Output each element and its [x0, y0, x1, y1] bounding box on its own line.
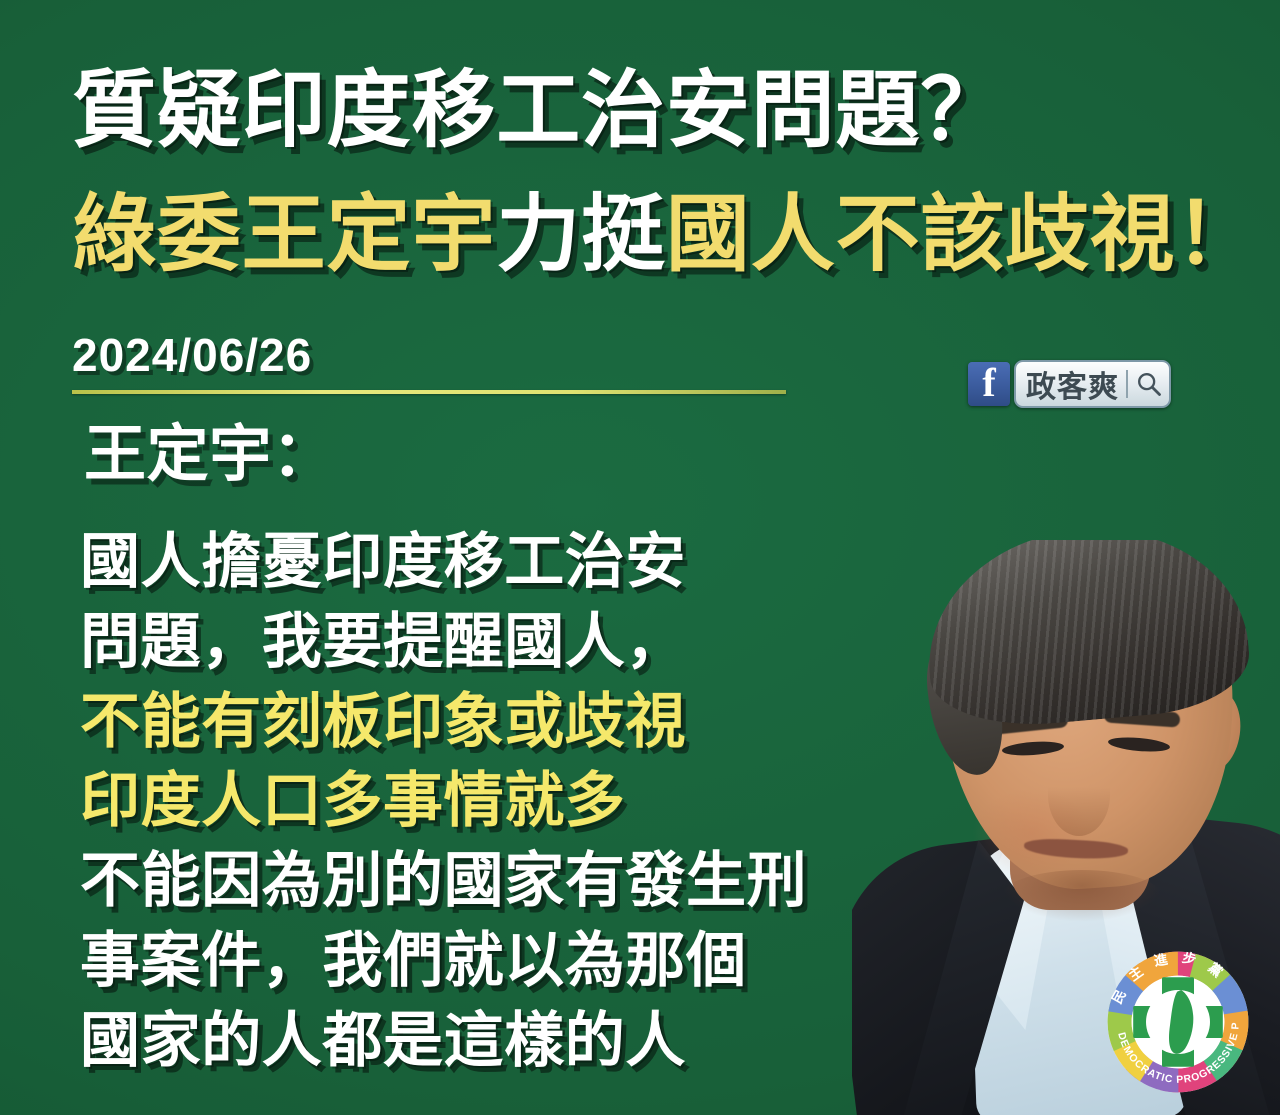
quote-line: 不能因為別的國家有發生刑 [80, 841, 960, 921]
facebook-search-box[interactable]: 政客爽 [1014, 360, 1171, 408]
chin-shading [1002, 870, 1162, 922]
search-icon[interactable] [1135, 370, 1163, 398]
facebook-page-name: 政客爽 [1026, 362, 1119, 406]
quote-block: 國人擔憂印度移工治安 問題，我要提醒國人， 不能有刻板印象或歧視 印度人口多事情… [80, 522, 960, 1081]
poster-canvas: 民主進步黨 DEMOCRATIC PROGRESSIVE PARTY 質疑印度移… [0, 0, 1280, 1115]
publish-date: 2024/06/26 [72, 328, 312, 382]
headline-line-2-part-1: 綠委王定宇 [72, 187, 496, 281]
quote-line: 問題，我要提醒國人， [80, 602, 960, 682]
facebook-page-badge[interactable]: 政客爽 [968, 360, 1171, 408]
quote-line: 國家的人都是這樣的人 [80, 1001, 960, 1081]
quote-line: 國人擔憂印度移工治安 [80, 522, 960, 602]
nose [1048, 754, 1110, 836]
headline-line-1: 質疑印度移工治安問題？ [72, 68, 1005, 152]
quote-line: 不能有刻板印象或歧視 [80, 682, 960, 762]
quote-line: 事案件，我們就以為那個 [80, 921, 960, 1001]
headline-line-2-part-2: 力挺 [496, 187, 666, 281]
dpp-logo: 民主進步黨 DEMOCRATIC PROGRESSIVE PARTY [1098, 942, 1258, 1102]
facebook-f-icon[interactable] [968, 362, 1010, 406]
quote-line: 印度人口多事情就多 [80, 761, 960, 841]
search-separator [1126, 370, 1128, 398]
horizontal-divider [72, 390, 786, 394]
speaker-name: 王定宇： [84, 424, 334, 486]
headline-line-2: 綠委王定宇力挺國人不該歧視！ [72, 192, 1260, 276]
headline-line-2-part-3: 國人不該歧視！ [666, 187, 1260, 281]
